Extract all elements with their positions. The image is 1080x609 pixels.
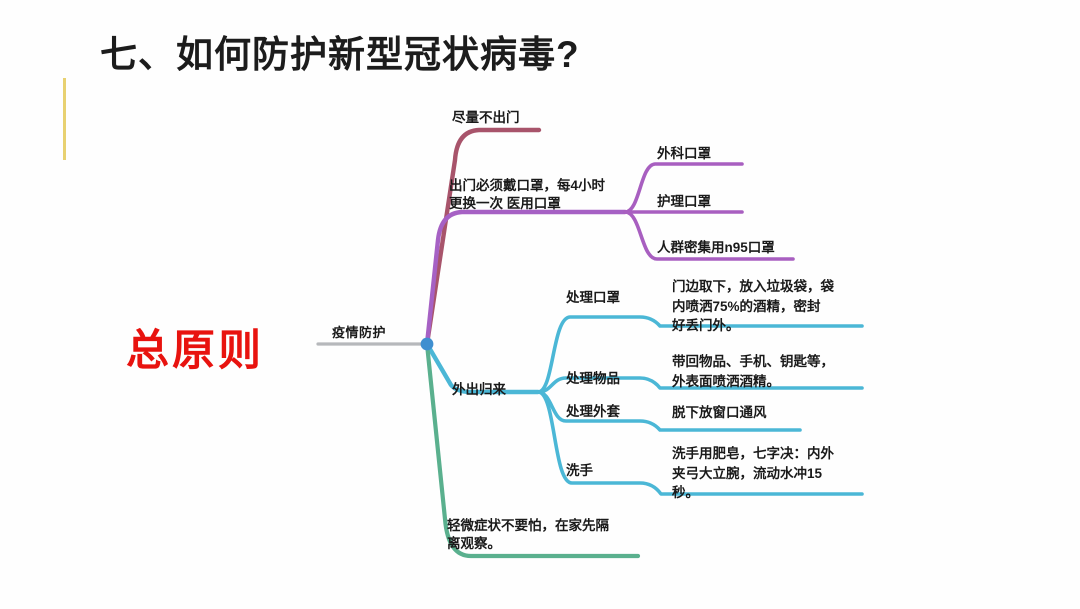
branch-wear-mask-line	[427, 212, 625, 344]
node-handle-coat-detail: 脱下放窗口通风	[672, 403, 767, 423]
branch-mild-symptoms-label: 轻微症状不要怕，在家先隔 离观察。	[447, 517, 609, 553]
node-handle-items-label: 处理物品	[566, 370, 620, 388]
branch-wear-mask-label: 出门必须戴口罩，每4小时 更换一次 医用口罩	[449, 177, 605, 213]
node-wash-hands-detail: 洗手用肥皂，七字决：内外 夹弓大立腕，流动水冲15 秒。	[672, 444, 834, 503]
slide-canvas: 七、如何防护新型冠状病毒? 总原则 疫情防护 尽量不出门 出门必须戴口罩，每4小…	[0, 0, 1080, 609]
root-node-label: 疫情防护	[332, 324, 386, 341]
node-handle-mask-label: 处理口罩	[566, 289, 620, 307]
node-handle-coat-label: 处理外套	[566, 403, 620, 421]
root-hub-dot[interactable]	[421, 338, 434, 351]
node-n95-mask-label: 人群密集用n95口罩	[657, 239, 775, 257]
node-surgical-mask-label: 外科口罩	[657, 145, 711, 163]
node-wash-hands-label: 洗手	[566, 462, 593, 480]
branch-stay-home-label: 尽量不出门	[452, 109, 520, 127]
branch-return-home-label: 外出归来	[452, 381, 506, 399]
node-nursing-mask-label: 护理口罩	[657, 193, 711, 211]
node-handle-items-detail: 带回物品、手机、钥匙等， 外表面喷洒酒精。	[672, 352, 834, 391]
branch-stay-home-line	[427, 130, 539, 344]
node-handle-mask-detail: 门边取下，放入垃圾袋，袋 内喷洒75%的酒精，密封 好丢门外。	[672, 277, 834, 336]
